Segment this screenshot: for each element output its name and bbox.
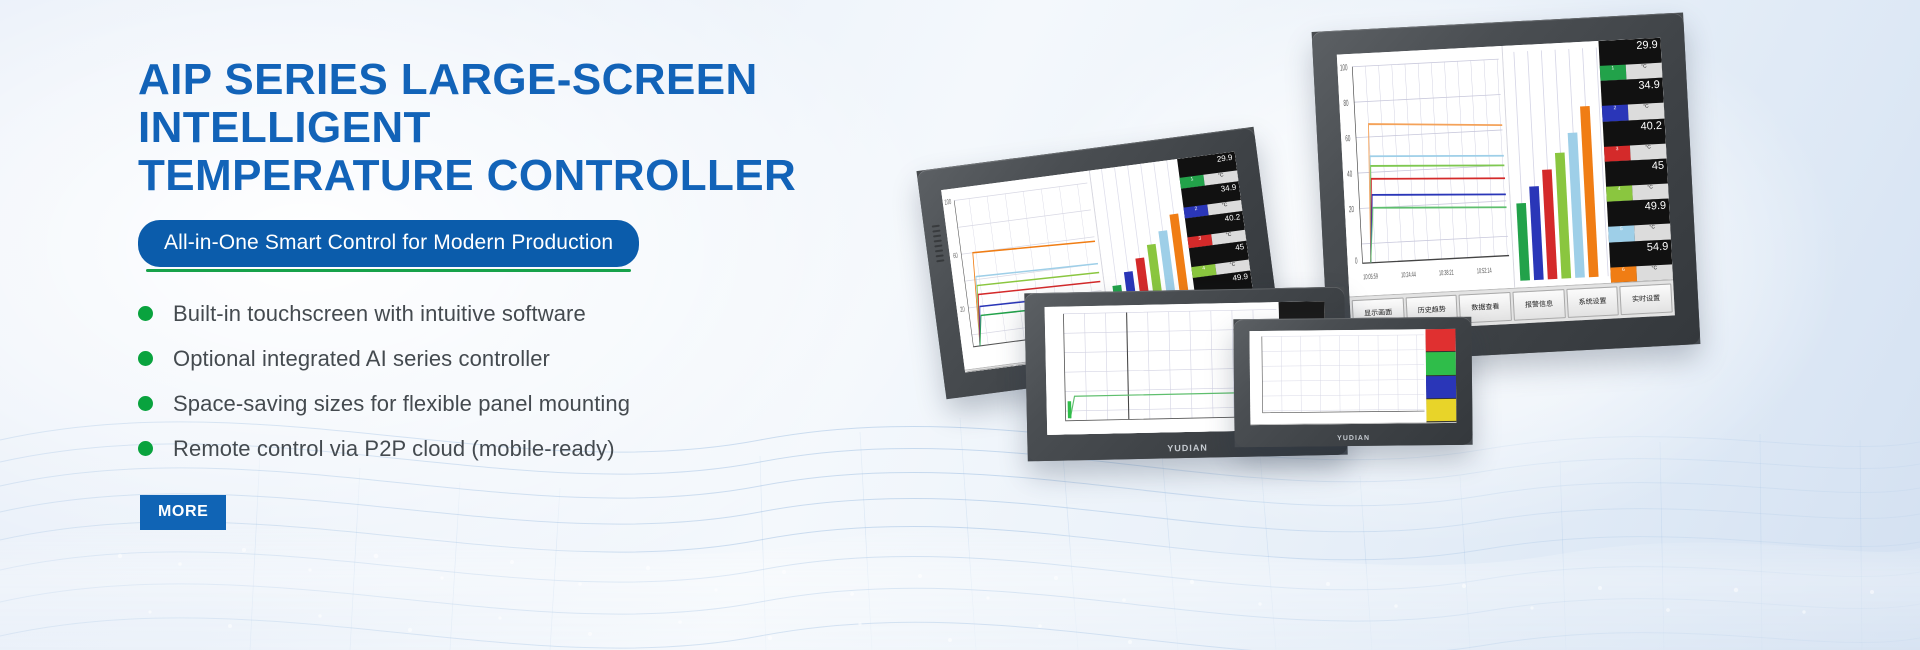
list-item: Space-saving sizes for flexible panel mo… xyxy=(138,391,958,417)
subtitle-badge-wrapper: All-in-One Smart Control for Modern Prod… xyxy=(138,220,639,267)
bar-panel xyxy=(1501,41,1611,288)
readout-panel: 29.9 1°C 34.9 2°C 40.2 3°C xyxy=(1598,38,1673,283)
device-screen: 100 80 60 40 20 0 10:05:59 10:24:44 xyxy=(1337,38,1675,333)
feature-list: Built-in touchscreen with intuitive soft… xyxy=(138,301,958,462)
bullet-dot-icon xyxy=(138,351,153,366)
readout-indicator xyxy=(1425,329,1455,353)
svg-text:40: 40 xyxy=(1347,170,1353,179)
svg-text:10:24:44: 10:24:44 xyxy=(1401,272,1417,280)
readout-value: 45 4°C xyxy=(1605,158,1669,202)
readout-value: 49.9 5°C xyxy=(1607,199,1671,243)
screen-button[interactable]: 系统设置 xyxy=(1566,286,1619,318)
readout-value: 34.9 2°C xyxy=(1601,78,1665,122)
screen-chart-area: 100 80 60 40 20 0 10:05:59 10:24:44 xyxy=(1337,38,1673,297)
product-image-group: 1006020 xyxy=(900,0,1920,650)
screen-button[interactable]: 报警信息 xyxy=(1512,289,1565,321)
readout-indicator xyxy=(1426,352,1456,376)
list-item: Optional integrated AI series controller xyxy=(138,346,958,372)
svg-text:0: 0 xyxy=(1355,257,1358,266)
headline-line-2: TEMPERATURE CONTROLLER xyxy=(138,152,958,200)
feature-label: Built-in touchscreen with intuitive soft… xyxy=(173,301,586,327)
device-screen: 画面 趋势 数据 设置 xyxy=(1249,329,1456,425)
bullet-dot-icon xyxy=(138,441,153,456)
brand-logo: YUDIAN xyxy=(1167,443,1208,454)
readout-value: 54.9 6°C xyxy=(1609,239,1673,283)
list-item: Remote control via P2P cloud (mobile-rea… xyxy=(138,436,958,462)
screen-button[interactable]: 实时设置 xyxy=(1620,283,1673,315)
readout-value: 40.2 3°C xyxy=(1603,118,1667,162)
readout-indicator xyxy=(1426,375,1456,399)
product-device-front-right: 画面 趋势 数据 设置 YUDIAN xyxy=(1233,317,1472,447)
list-item: Built-in touchscreen with intuitive soft… xyxy=(138,301,958,327)
trend-plot xyxy=(1249,329,1426,424)
more-button[interactable]: MORE xyxy=(140,495,226,530)
page-title: AIP SERIES LARGE-SCREEN INTELLIGENT TEMP… xyxy=(138,56,958,200)
readout-value: 29.9 1°C xyxy=(1598,38,1662,82)
feature-label: Remote control via P2P cloud (mobile-rea… xyxy=(173,436,615,462)
svg-text:10:05:59: 10:05:59 xyxy=(1363,274,1378,282)
brand-logo: YUDIAN xyxy=(1337,435,1370,442)
bullet-dot-icon xyxy=(138,306,153,321)
subtitle-badge: All-in-One Smart Control for Modern Prod… xyxy=(138,220,639,267)
svg-text:10:52:14: 10:52:14 xyxy=(1477,268,1493,276)
svg-text:60: 60 xyxy=(1345,135,1351,144)
bullet-dot-icon xyxy=(138,396,153,411)
badge-underline-accent xyxy=(146,269,631,272)
feature-label: Space-saving sizes for flexible panel mo… xyxy=(173,391,630,417)
svg-text:20: 20 xyxy=(1349,206,1355,215)
svg-text:80: 80 xyxy=(1343,99,1349,108)
banner-content: AIP SERIES LARGE-SCREEN INTELLIGENT TEMP… xyxy=(138,56,958,530)
feature-label: Optional integrated AI series controller xyxy=(173,346,550,372)
headline-line-1: AIP SERIES LARGE-SCREEN INTELLIGENT xyxy=(138,55,758,152)
trend-plot: 100 80 60 40 20 0 10:05:59 10:24:44 xyxy=(1337,46,1514,296)
product-device-large: 100 80 60 40 20 0 10:05:59 10:24:44 xyxy=(1312,12,1701,363)
svg-text:100: 100 xyxy=(1340,64,1348,73)
screen-chart-area xyxy=(1249,329,1456,424)
promo-banner: AIP SERIES LARGE-SCREEN INTELLIGENT TEMP… xyxy=(0,0,1920,650)
readout-indicator xyxy=(1426,399,1456,423)
svg-text:10:38:21: 10:38:21 xyxy=(1439,270,1454,278)
readout-panel xyxy=(1425,329,1456,422)
